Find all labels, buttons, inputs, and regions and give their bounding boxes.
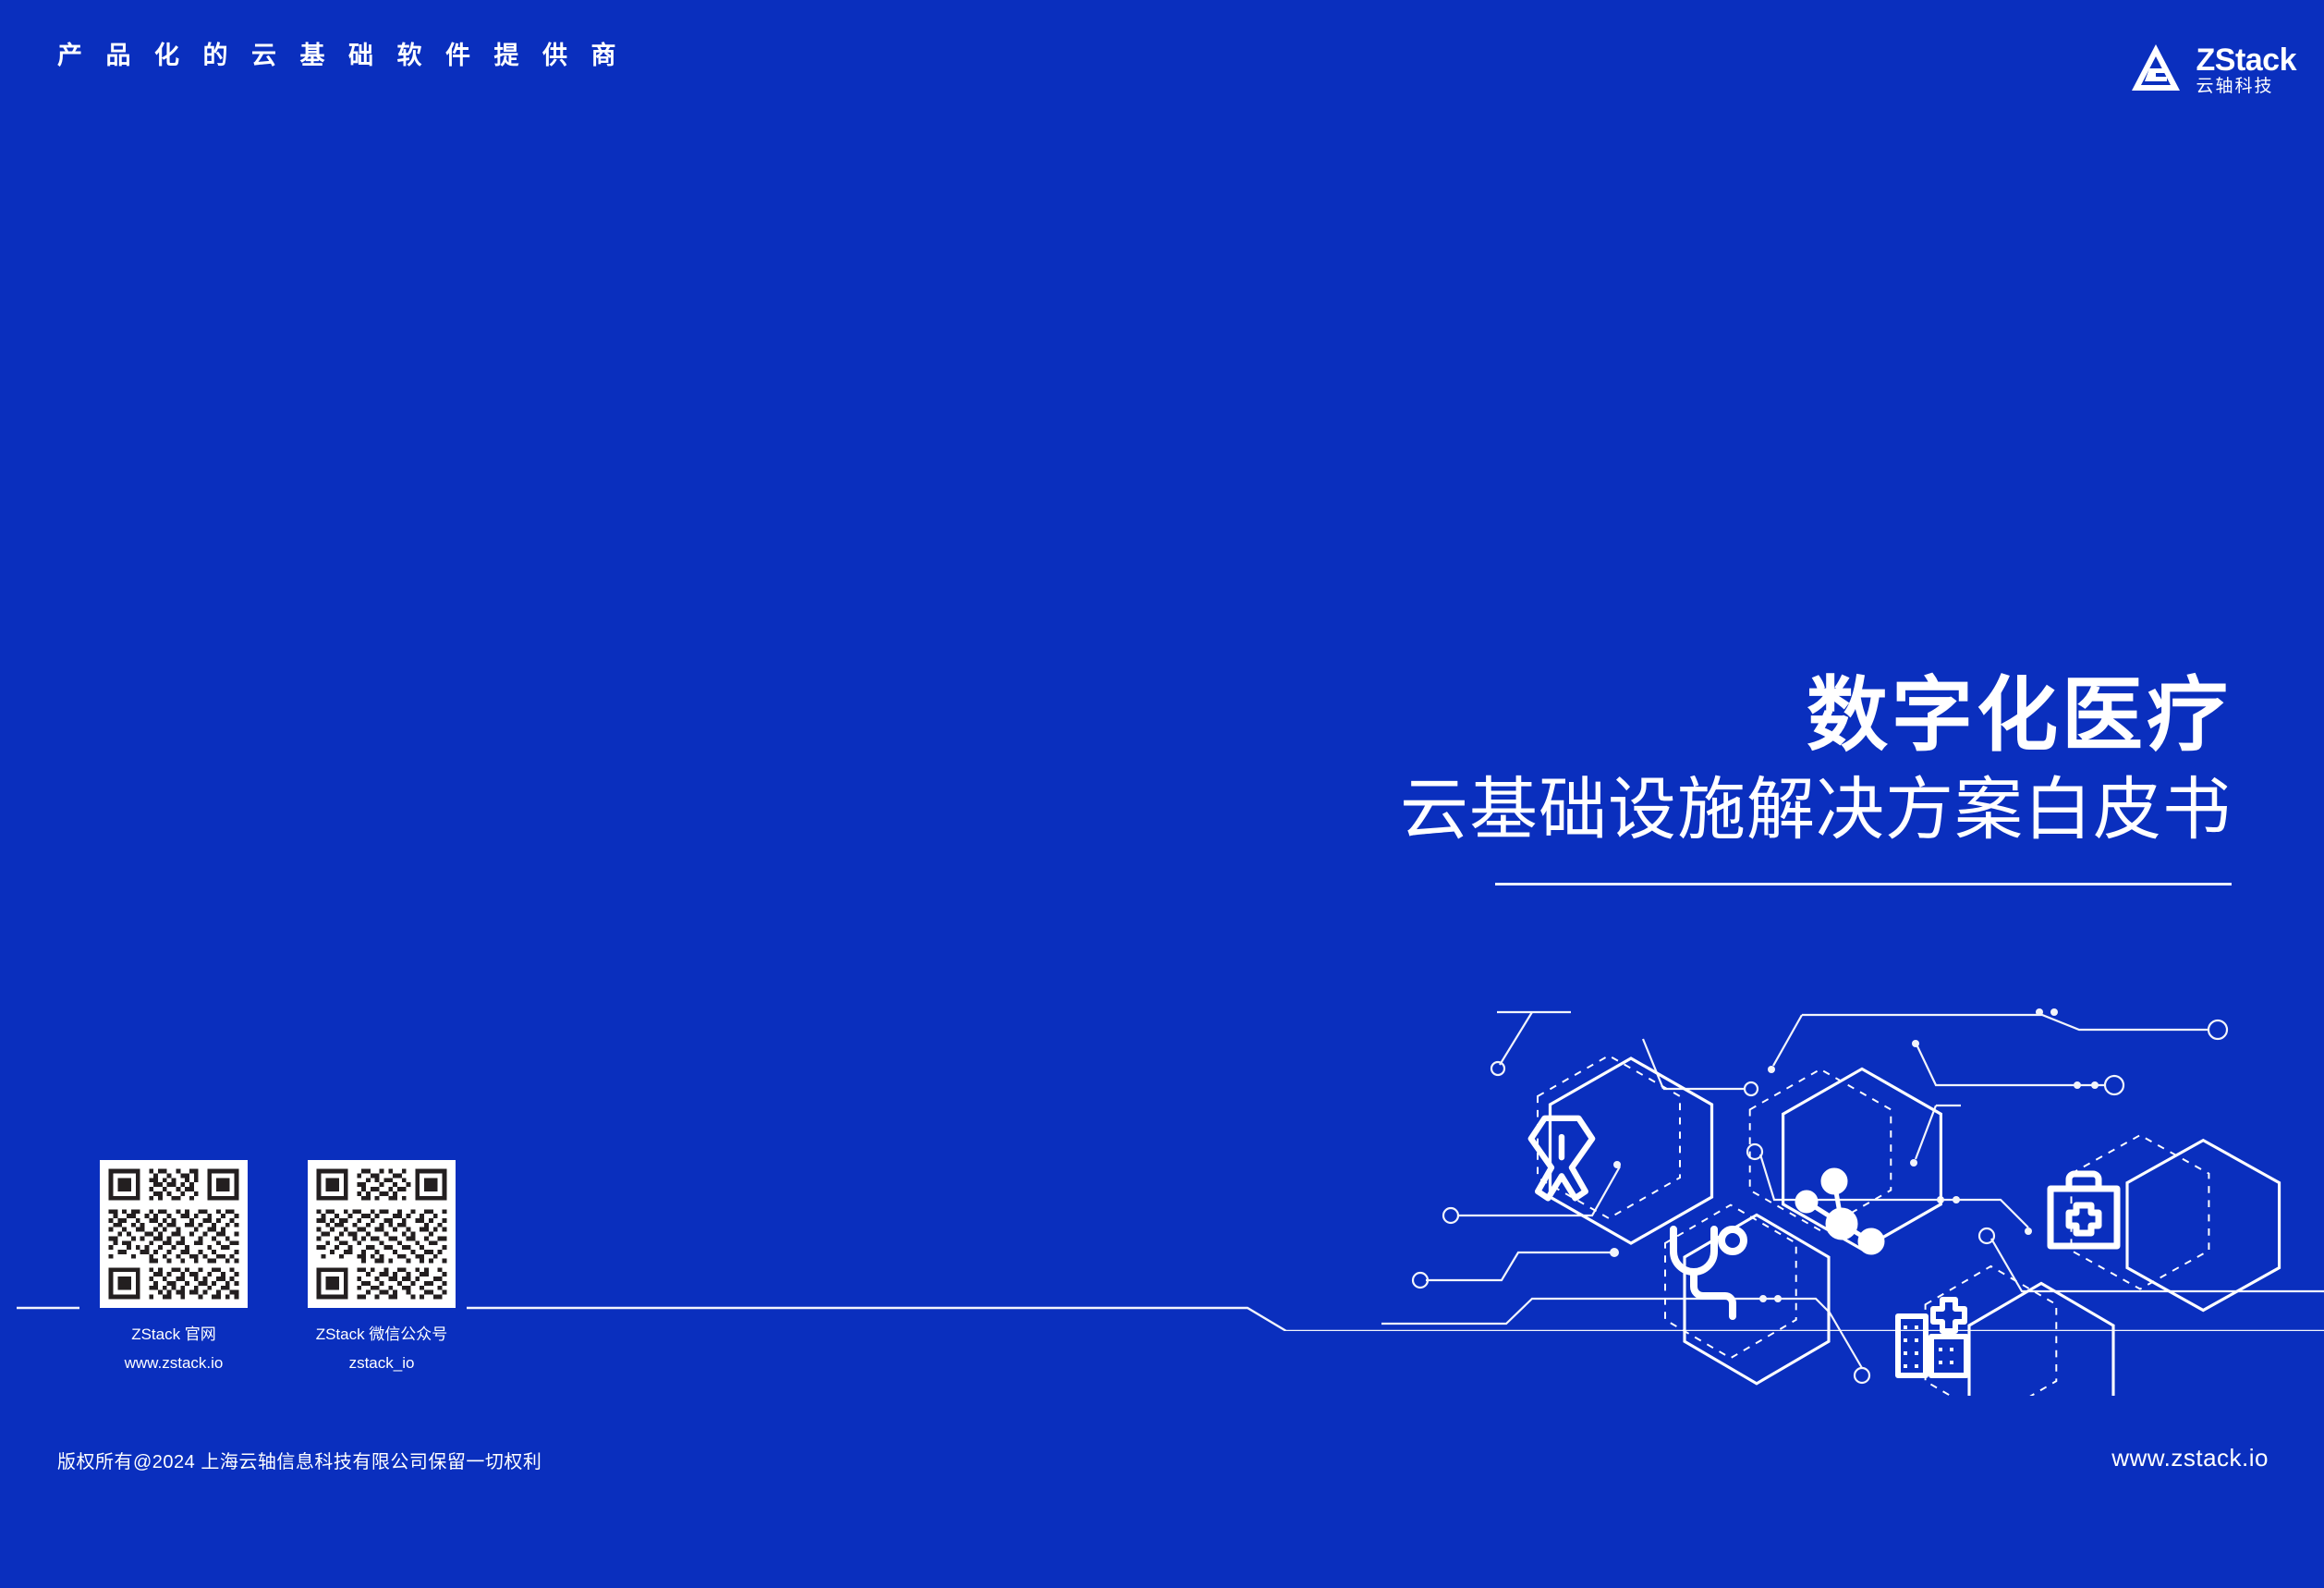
qr-code-icon — [100, 1160, 248, 1308]
brand-text-group: ZStack 云轴科技 — [2196, 44, 2297, 95]
brand-name: ZStack — [2196, 44, 2297, 76]
copyright-text: 版权所有@2024 上海云轴信息科技有限公司保留一切权利 — [57, 1447, 541, 1473]
qr-code-website[interactable]: ZStack 官网 www.zstack.io — [100, 1160, 248, 1374]
hex-ribbon — [1531, 1056, 1712, 1243]
qr-code-title: ZStack 官网 — [131, 1323, 216, 1347]
qr-code-wechat[interactable]: ZStack 微信公众号 zstack_io — [308, 1160, 456, 1374]
qr-code-group: ZStack 官网 www.zstack.io — [100, 1160, 456, 1374]
website-url[interactable]: www.zstack.io — [2111, 1444, 2269, 1472]
brand-logo: ZStack 云轴科技 — [2130, 43, 2297, 96]
title-divider-rule — [1495, 883, 2232, 886]
qr-code-subtitle: www.zstack.io — [125, 1352, 224, 1374]
hex-molecule — [1750, 1069, 1941, 1252]
qr-code-subtitle: zstack_io — [349, 1352, 415, 1374]
qr-code-title: ZStack 微信公众号 — [316, 1323, 448, 1347]
brand-name-cn: 云轴科技 — [2196, 78, 2297, 95]
page-subtitle: 云基础设施解决方案白皮书 — [1308, 769, 2232, 849]
hero-title-block: 数字化医疗 云基础设施解决方案白皮书 — [1308, 675, 2232, 886]
hex-firstaid — [2050, 1135, 2280, 1310]
page-tagline: 产 品 化 的 云 基 础 软 件 提 供 商 — [57, 41, 625, 70]
zstack-triangle-logo-icon — [2130, 43, 2182, 96]
cover-page: 产 品 化 的 云 基 础 软 件 提 供 商 ZStack 云轴科技 数字化医… — [0, 0, 2324, 1588]
qr-code-icon — [308, 1160, 456, 1308]
page-title: 数字化医疗 — [1308, 675, 2232, 756]
